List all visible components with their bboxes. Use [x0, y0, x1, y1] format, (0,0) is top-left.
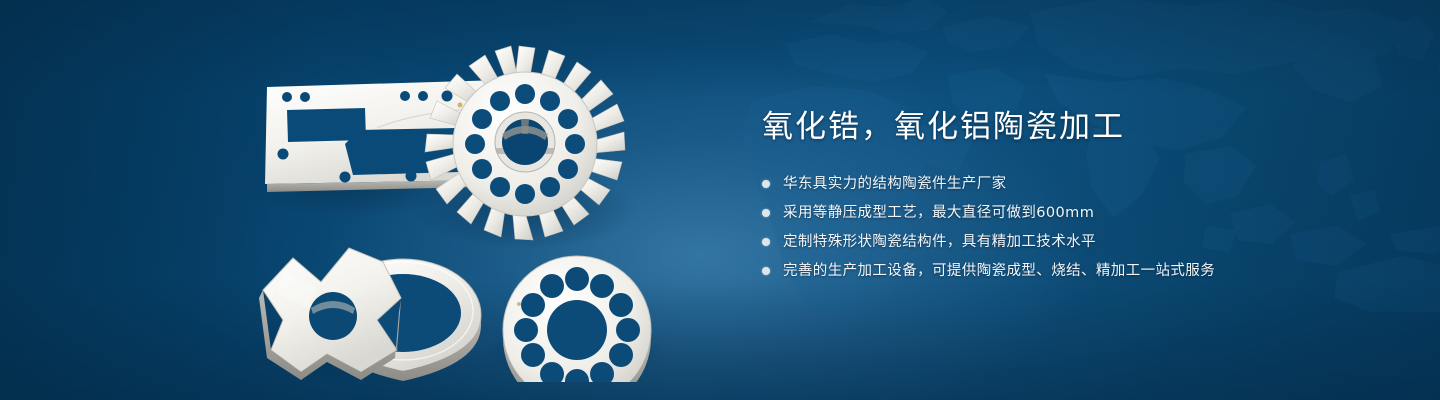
bullet-dot-icon	[762, 267, 770, 275]
bullet-dot-icon	[762, 209, 770, 217]
list-item: 完善的生产加工设备，可提供陶瓷成型、烧结、精加工一站式服务	[762, 259, 1322, 283]
ceramic-products-image	[225, 32, 705, 382]
feature-text: 采用等静压成型工艺，最大直径可做到600mm	[783, 202, 1094, 224]
page-title: 氧化锆，氧化铝陶瓷加工	[762, 104, 1322, 150]
list-item: 定制特殊形状陶瓷结构件，具有精加工技术水平	[762, 230, 1322, 254]
feature-text: 华东具实力的结构陶瓷件生产厂家	[783, 173, 1007, 195]
feature-list: 华东具实力的结构陶瓷件生产厂家 采用等静压成型工艺，最大直径可做到600mm 定…	[762, 172, 1322, 283]
bullet-dot-icon	[762, 180, 770, 188]
ceramic-perforated-disc	[503, 256, 651, 382]
feature-text: 定制特殊形状陶瓷结构件，具有精加工技术水平	[783, 231, 1096, 253]
feature-text: 完善的生产加工设备，可提供陶瓷成型、烧结、精加工一站式服务	[783, 260, 1215, 282]
ceramic-cross-plate	[259, 248, 401, 380]
bullet-dot-icon	[762, 238, 770, 246]
hero-banner: 氧化锆，氧化铝陶瓷加工 华东具实力的结构陶瓷件生产厂家 采用等静压成型工艺，最大…	[0, 0, 1440, 400]
list-item: 采用等静压成型工艺，最大直径可做到600mm	[762, 201, 1322, 225]
banner-copy: 氧化锆，氧化铝陶瓷加工 华东具实力的结构陶瓷件生产厂家 采用等静压成型工艺，最大…	[762, 104, 1322, 288]
list-item: 华东具实力的结构陶瓷件生产厂家	[762, 172, 1322, 196]
